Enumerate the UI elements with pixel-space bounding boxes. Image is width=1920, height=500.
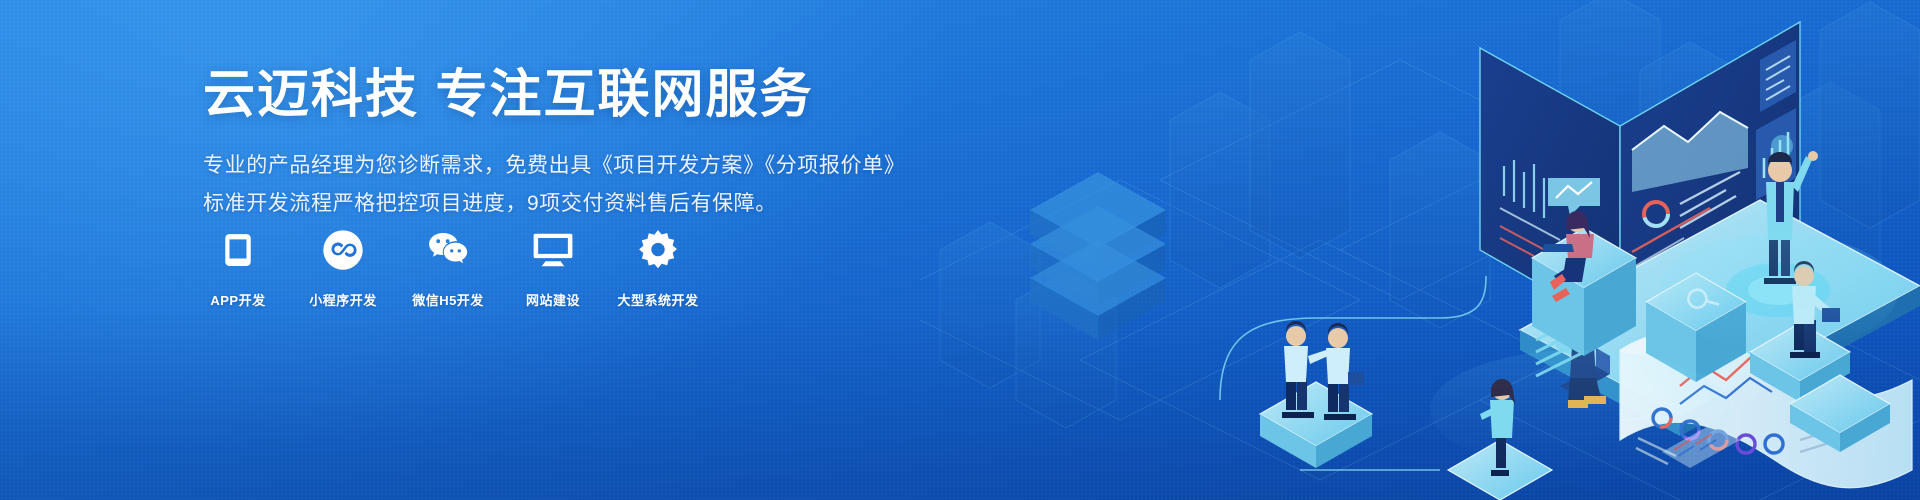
- mini-program-icon: [322, 228, 364, 272]
- service-label: 网站建设: [526, 290, 580, 309]
- monitor-icon: [531, 228, 575, 272]
- service-label: 微信H5开发: [412, 290, 484, 309]
- service-label: 大型系统开发: [618, 290, 699, 309]
- service-list: APP开发 小程序开发 微信H5开发: [203, 228, 693, 309]
- mobile-phone-icon: [221, 228, 255, 272]
- service-item-mini-program[interactable]: 小程序开发: [308, 228, 378, 309]
- gear-icon: [637, 228, 679, 272]
- subtitle-line-2: 标准开发流程严格把控项目进度，9项交付资料售后有保障。: [203, 185, 905, 222]
- page-title: 云迈科技 专注互联网服务: [203, 66, 905, 125]
- service-item-wechat-h5[interactable]: 微信H5开发: [413, 228, 483, 309]
- banner-subtitle: 专业的产品经理为您诊断需求，免费出具《项目开发方案》《分项报价单》 标准开发流程…: [203, 147, 905, 222]
- service-item-website[interactable]: 网站建设: [518, 228, 588, 309]
- subtitle-line-1: 专业的产品经理为您诊断需求，免费出具《项目开发方案》《分项报价单》: [203, 147, 905, 184]
- isometric-tech-illustration: [920, 0, 1920, 500]
- banner-copy: 云迈科技 专注互联网服务 专业的产品经理为您诊断需求，免费出具《项目开发方案》《…: [203, 66, 905, 222]
- promo-banner: 云迈科技 专注互联网服务 专业的产品经理为您诊断需求，免费出具《项目开发方案》《…: [0, 0, 1920, 500]
- service-item-app[interactable]: APP开发: [203, 228, 273, 309]
- wechat-icon: [425, 228, 471, 272]
- service-label: 小程序开发: [309, 290, 377, 309]
- service-label: APP开发: [210, 290, 265, 309]
- service-item-large-system[interactable]: 大型系统开发: [623, 228, 693, 309]
